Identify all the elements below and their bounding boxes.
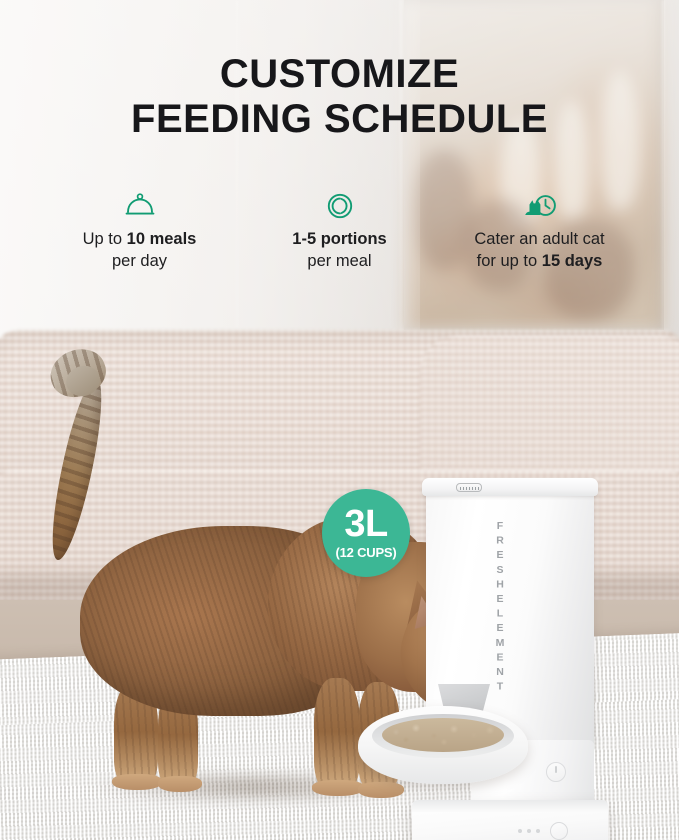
feeder-power-button[interactable] — [546, 762, 566, 782]
feeder-lid — [422, 478, 598, 496]
feature-text: Cater an adult cat for up to 15 days — [440, 229, 640, 273]
feeder-feed-button[interactable] — [550, 822, 568, 840]
badge-cups: (12 CUPS) — [335, 546, 396, 559]
feeder-lid-logo-plate — [456, 483, 482, 492]
headline-line-2: FEEDING SCHEDULE — [0, 97, 679, 142]
feeder-brand-label: FRESHELEMENT — [494, 520, 506, 695]
cat-paw — [312, 780, 364, 796]
feature-subtext-prefix: for up to — [477, 252, 542, 270]
feeder-base-lip — [412, 800, 608, 812]
cat-tail — [28, 348, 148, 558]
feeder-indicator-lights — [518, 829, 540, 833]
cat-clock-icon — [440, 186, 640, 226]
cat-paw — [158, 776, 202, 792]
badge-volume: 3L — [344, 507, 387, 543]
feeder-food-bowl — [358, 706, 528, 784]
feature-subtext: per meal — [240, 251, 440, 273]
pet-feeder-device: FRESHELEMENT — [420, 470, 600, 790]
cat-paw — [112, 774, 162, 790]
feature-prefix: Cater an adult cat — [440, 229, 640, 251]
feature-highlight: 15 days — [542, 252, 603, 270]
food-dome-icon — [40, 186, 240, 226]
feature-subtext: per day — [40, 251, 240, 273]
product-marketing-image: CUSTOMIZE FEEDING SCHEDULE Up to 10 meal… — [0, 0, 679, 840]
feature-highlight: 1-5 portions — [292, 230, 386, 248]
feature-highlight: 10 meals — [127, 230, 197, 248]
cat-paw — [358, 782, 404, 798]
feature-meals-per-day: Up to 10 meals per day — [40, 186, 240, 273]
cat-tail-shaft — [43, 375, 111, 563]
cat-front-leg — [314, 678, 360, 790]
kibble-food — [382, 718, 504, 752]
capacity-badge: 3L (12 CUPS) — [322, 489, 410, 577]
feature-portions-per-meal: 1-5 portions per meal — [240, 186, 440, 273]
feature-prefix: Up to — [83, 230, 127, 248]
feature-list: Up to 10 meals per day 1-5 portions per … — [0, 186, 679, 273]
page-title: CUSTOMIZE FEEDING SCHEDULE — [0, 52, 679, 142]
portion-circle-icon — [240, 186, 440, 226]
headline-line-1: CUSTOMIZE — [220, 52, 459, 96]
feature-text: Up to 10 meals per day — [40, 229, 240, 273]
feature-text: 1-5 portions per meal — [240, 229, 440, 273]
feature-days-capacity: Cater an adult cat for up to 15 days — [440, 186, 640, 273]
